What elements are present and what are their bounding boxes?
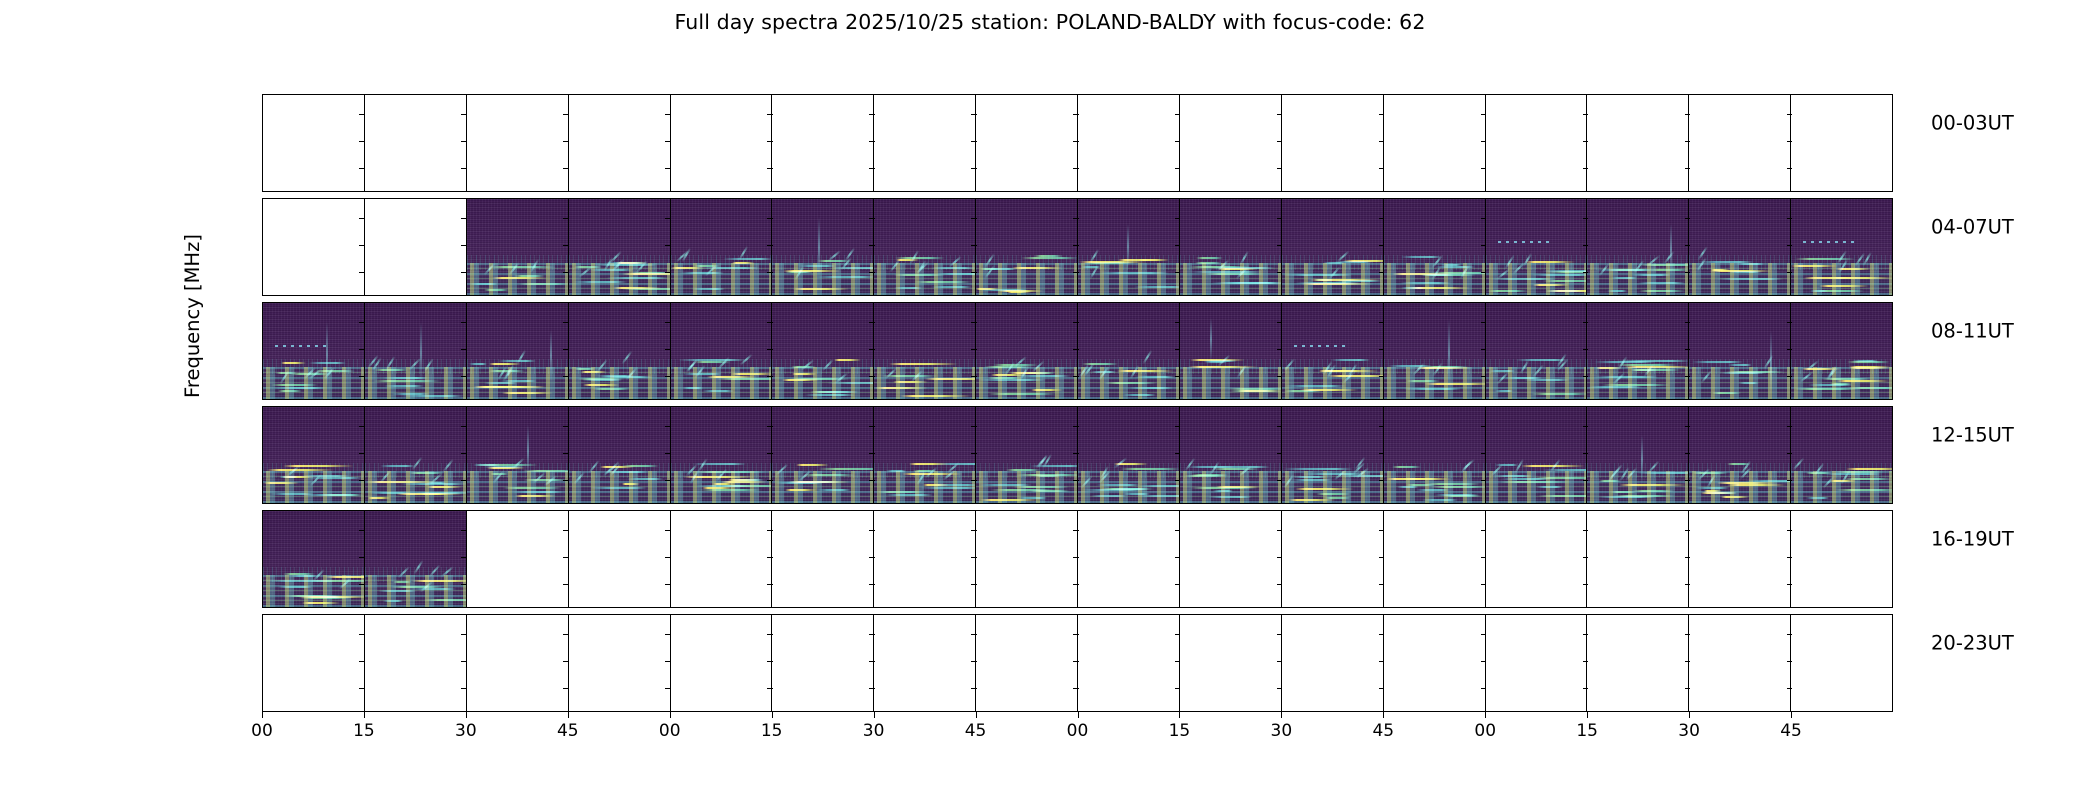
y-tick-mark-inner <box>971 114 977 115</box>
echo-streak <box>503 487 562 489</box>
sweep-trace <box>1855 252 1866 266</box>
sweep-trace <box>798 469 811 481</box>
echo-streak <box>1716 278 1783 280</box>
y-tick-mark-inner <box>1379 245 1385 246</box>
y-tick-mark-inner <box>971 530 977 531</box>
echo-streak <box>582 379 622 381</box>
echo-streak <box>1701 492 1737 494</box>
y-tick-mark-inner <box>869 245 875 246</box>
echo-streak <box>1727 271 1762 273</box>
sweep-trace <box>1827 366 1838 380</box>
echo-streak <box>421 493 448 495</box>
echo-streak <box>1416 489 1450 491</box>
echo-streak <box>1403 478 1451 480</box>
sweep-trace <box>916 260 926 274</box>
spectrogram-panel <box>1077 511 1179 607</box>
spectrogram-panel <box>1179 303 1281 399</box>
spectrogram-panel <box>670 95 772 191</box>
echo-streak <box>1120 468 1179 470</box>
y-tick-mark-inner <box>869 376 875 377</box>
echo-streak <box>894 274 945 276</box>
echo-streak <box>368 497 391 499</box>
y-tick-mark-inner <box>1787 349 1793 350</box>
y-tick-mark-inner <box>461 426 467 427</box>
spectrogram-image <box>1791 303 1892 399</box>
sweep-trace <box>1706 474 1716 489</box>
echo-streak <box>299 596 364 598</box>
x-tick-mark <box>1689 712 1690 718</box>
row-label-12-15ut: 12-15UT <box>1931 424 2014 447</box>
echo-streak <box>1316 493 1351 495</box>
vertical-burst <box>1770 331 1772 395</box>
echo-streak <box>1533 477 1587 479</box>
echo-streak <box>1719 372 1766 374</box>
spectrogram-image <box>1587 303 1688 399</box>
sweep-trace <box>1822 475 1834 488</box>
spectrogram-image <box>1587 407 1688 503</box>
spectrogram-image <box>1689 199 1790 295</box>
spectrogram-panel <box>568 199 670 295</box>
y-tick-mark-inner <box>1481 245 1487 246</box>
echo-streak <box>1099 488 1154 490</box>
y-tick-mark-inner <box>971 218 977 219</box>
y-tick-mark-inner <box>869 349 875 350</box>
y-tick-mark-inner <box>1685 584 1691 585</box>
sweep-trace <box>398 566 411 578</box>
spectrogram-panel <box>1688 95 1790 191</box>
echo-streak <box>818 468 874 470</box>
y-tick-mark-inner <box>971 453 977 454</box>
y-tick-mark: 25 <box>262 272 263 273</box>
echo-streak <box>1302 283 1373 285</box>
spectrogram-panel <box>771 511 873 607</box>
echo-streak <box>805 394 856 396</box>
echo-streak <box>732 262 755 264</box>
y-tick-mark-inner <box>869 272 875 273</box>
y-tick-mark-inner <box>665 376 671 377</box>
y-tick-mark-inner <box>767 634 773 635</box>
y-tick-mark-inner <box>1277 426 1283 427</box>
y-tick-mark-inner <box>665 114 671 115</box>
echo-streak <box>1423 366 1469 368</box>
echo-streak <box>1288 499 1336 501</box>
echo-streak <box>274 387 325 389</box>
echo-streak <box>1429 272 1484 274</box>
y-tick-mark-inner <box>1175 557 1181 558</box>
echo-streak <box>1300 389 1358 391</box>
echo-streak <box>1082 489 1148 491</box>
echo-streak <box>321 494 364 496</box>
panel-strip <box>263 407 1892 503</box>
echo-streak <box>886 470 907 472</box>
echo-streak <box>1018 497 1046 499</box>
echo-streak <box>1595 269 1657 271</box>
sweep-trace <box>1806 360 1819 371</box>
spectrogram-image <box>1689 303 1790 399</box>
echo-streak <box>604 262 647 264</box>
y-tick-mark-inner <box>1481 688 1487 689</box>
spectrogram-figure: Full day spectra 2025/10/25 station: POL… <box>0 0 2100 800</box>
y-tick-mark-inner <box>1073 322 1079 323</box>
sweep-trace <box>1520 360 1530 374</box>
sweep-trace <box>835 373 849 384</box>
echo-streak <box>264 482 299 484</box>
y-tick-mark-inner <box>767 272 773 273</box>
echo-streak <box>1104 382 1157 384</box>
sweep-trace <box>1284 358 1296 371</box>
y-tick-mark-inner <box>1583 661 1589 662</box>
echo-streak <box>789 481 851 483</box>
echo-streak <box>1021 257 1077 259</box>
y-tick-mark-inner <box>563 168 569 169</box>
echo-streak <box>310 580 364 582</box>
panel-strip <box>263 199 1892 295</box>
spectrogram-image <box>671 199 772 295</box>
spectrogram-panel <box>1790 303 1892 399</box>
spectrogram-panel <box>1179 199 1281 295</box>
y-tick-mark-inner <box>1175 480 1181 481</box>
echo-streak <box>630 272 670 274</box>
spectrogram-panel <box>1790 199 1892 295</box>
sweep-trace <box>1334 469 1347 480</box>
spectrogram-panel <box>1281 199 1383 295</box>
y-tick-mark: 50 <box>262 661 263 662</box>
y-tick-mark-inner <box>1685 218 1691 219</box>
sweep-trace <box>1497 268 1510 279</box>
echo-streak <box>469 363 488 365</box>
echo-streak <box>783 270 841 272</box>
y-tick-mark-inner <box>1787 322 1793 323</box>
echo-streak <box>613 287 662 289</box>
spectrogram-image <box>772 303 873 399</box>
sweep-trace <box>1700 370 1711 383</box>
y-tick-mark-inner <box>1685 453 1691 454</box>
spectrogram-panel <box>1179 407 1281 503</box>
spectrogram-panel <box>1179 95 1281 191</box>
echo-streak <box>1130 387 1174 389</box>
echo-streak <box>1822 473 1883 475</box>
spectrogram-panel <box>771 407 873 503</box>
sweep-trace <box>1184 458 1195 472</box>
sweep-trace <box>1083 363 1094 377</box>
y-tick-mark-inner <box>767 168 773 169</box>
echo-streak <box>789 378 849 380</box>
echo-streak <box>977 379 1046 381</box>
echo-streak <box>1188 366 1257 368</box>
y-tick-mark-inner <box>971 376 977 377</box>
y-tick-mark-inner <box>1073 218 1079 219</box>
echo-streak <box>370 492 414 494</box>
spectrogram-panel <box>568 407 670 503</box>
y-tick-mark-inner <box>1277 218 1283 219</box>
echo-streak <box>1435 266 1475 268</box>
echo-streak <box>1117 370 1175 372</box>
spectrogram-panel <box>263 199 364 295</box>
x-tick-mark <box>1485 712 1486 718</box>
echo-streak <box>500 380 537 382</box>
y-tick-mark: 50 <box>262 245 263 246</box>
echo-streak <box>291 575 317 577</box>
echo-streak <box>1602 384 1671 386</box>
echo-streak <box>469 283 497 285</box>
spectrogram-panel <box>1281 303 1383 399</box>
echo-streak <box>931 286 972 288</box>
spectrogram-image <box>772 199 873 295</box>
echo-streak <box>426 482 446 484</box>
echo-streak <box>1213 466 1270 468</box>
echo-streak <box>1323 262 1345 264</box>
x-tick-label: 00 <box>1067 721 1089 741</box>
sweep-trace <box>1827 365 1837 379</box>
echo-streak <box>730 479 764 481</box>
spectrogram-image <box>365 511 466 607</box>
echo-streak <box>1035 475 1062 477</box>
y-tick-mark-inner <box>1277 530 1283 531</box>
y-tick-mark-inner <box>665 480 671 481</box>
spectrogram-panel <box>1077 95 1179 191</box>
echo-streak <box>502 392 552 394</box>
x-tick-mark <box>874 712 875 718</box>
echo-streak <box>400 483 466 485</box>
spectrogram-image <box>569 407 670 503</box>
y-tick-mark-inner <box>461 634 467 635</box>
y-tick-mark-inner <box>1787 272 1793 273</box>
sweep-trace <box>1130 365 1140 379</box>
y-tick-mark-inner <box>1379 141 1385 142</box>
spectrogram-panel <box>364 407 466 503</box>
echo-streak <box>1692 472 1729 474</box>
echo-streak <box>1609 269 1651 271</box>
echo-streak <box>265 580 335 582</box>
echo-streak <box>1639 290 1685 292</box>
y-tick-mark-inner <box>1073 114 1079 115</box>
echo-streak <box>988 377 1021 379</box>
echo-streak <box>827 382 873 384</box>
y-tick-mark-inner <box>461 480 467 481</box>
echo-streak <box>1639 264 1688 266</box>
y-tick-mark-inner <box>1787 584 1793 585</box>
y-tick-mark-inner <box>767 376 773 377</box>
echo-streak <box>1717 482 1779 484</box>
echo-streak <box>1331 280 1382 282</box>
spectrogram-panel <box>1586 615 1688 711</box>
y-tick-mark-inner <box>461 245 467 246</box>
echo-streak <box>991 374 1026 376</box>
echo-streak <box>487 266 557 268</box>
y-tick-mark-inner <box>1175 634 1181 635</box>
echo-streak <box>1843 478 1892 480</box>
y-tick-mark-inner <box>1685 141 1691 142</box>
echo-streak <box>1091 371 1117 373</box>
y-tick-mark-inner <box>359 218 365 219</box>
echo-streak <box>284 595 341 597</box>
echo-streak <box>978 484 1032 486</box>
echo-streak <box>1501 478 1551 480</box>
spectrogram-row: 755025 <box>262 94 1893 192</box>
y-tick-mark-inner <box>1685 349 1691 350</box>
echo-streak <box>1338 475 1383 477</box>
plot-area: 00-03UT75502504-07UT75502508-11UT7550251… <box>262 94 1893 714</box>
echo-streak <box>595 264 656 266</box>
echo-streak <box>884 494 933 496</box>
y-tick-mark-inner <box>563 480 569 481</box>
y-tick-mark-inner <box>1073 426 1079 427</box>
echo-streak <box>984 268 1017 270</box>
spectrogram-row: 755025 <box>262 302 1893 400</box>
echo-streak <box>976 288 998 290</box>
sweep-trace <box>1431 266 1441 280</box>
x-tick-label: 45 <box>557 721 579 741</box>
spectrogram-panel <box>1179 615 1281 711</box>
y-tick-mark-inner <box>1277 245 1283 246</box>
y-tick-mark-inner <box>869 168 875 169</box>
spectrogram-image <box>1078 199 1179 295</box>
y-tick-mark-inner <box>1277 661 1283 662</box>
spectrogram-panel <box>1281 511 1383 607</box>
spectrogram-panel <box>466 303 568 399</box>
y-tick-mark-inner <box>359 272 365 273</box>
y-tick-mark-inner <box>767 218 773 219</box>
spectrogram-image <box>874 303 975 399</box>
panel-strip <box>263 511 1892 607</box>
y-tick-mark-inner <box>1073 688 1079 689</box>
echo-streak <box>1712 392 1741 394</box>
sweep-trace <box>1098 366 1108 380</box>
y-tick-mark-inner <box>767 584 773 585</box>
echo-streak <box>1189 266 1251 268</box>
y-tick-mark-inner <box>359 376 365 377</box>
y-tick-mark-inner <box>461 661 467 662</box>
y-tick-mark-inner <box>665 322 671 323</box>
echo-streak <box>692 288 725 290</box>
echo-streak <box>325 576 364 578</box>
x-tick-label: 45 <box>1372 721 1394 741</box>
echo-streak <box>923 484 950 486</box>
spectrogram-image <box>1486 303 1587 399</box>
y-tick-mark-inner <box>1481 453 1487 454</box>
echo-streak <box>1416 367 1472 369</box>
sweep-trace <box>1080 476 1092 489</box>
y-tick-mark-inner <box>1583 168 1589 169</box>
panel-strip <box>263 615 1892 711</box>
y-tick-mark-inner <box>1481 376 1487 377</box>
spectrogram-panel <box>1281 407 1383 503</box>
y-tick-mark-inner <box>1073 245 1079 246</box>
echo-streak <box>1006 469 1040 471</box>
y-tick-mark-inner <box>359 453 365 454</box>
vertical-burst <box>1641 435 1643 484</box>
sweep-trace <box>690 470 700 484</box>
spectrogram-row: 755025 <box>262 406 1893 504</box>
spectrogram-image <box>1791 407 1892 503</box>
y-tick-mark-inner <box>1583 322 1589 323</box>
echo-streak <box>1487 290 1528 292</box>
sweep-trace <box>1461 460 1473 473</box>
row-label-08-11ut: 08-11UT <box>1931 320 2014 343</box>
echo-streak <box>1443 495 1482 497</box>
y-tick-mark-inner <box>869 661 875 662</box>
spectrogram-panel <box>1077 199 1179 295</box>
echo-streak <box>1692 361 1743 363</box>
spectrogram-panel <box>263 407 364 503</box>
sweep-trace <box>420 581 433 592</box>
echo-streak <box>803 474 854 476</box>
y-tick-mark-inner <box>665 272 671 273</box>
echo-streak <box>894 287 922 289</box>
sweep-trace <box>280 370 290 384</box>
sweep-trace <box>1078 364 1088 378</box>
echo-streak <box>1295 282 1360 284</box>
spectrogram-panel <box>1790 95 1892 191</box>
y-tick-mark-inner <box>971 557 977 558</box>
sweep-trace <box>611 259 624 271</box>
echo-streak <box>1806 497 1829 499</box>
echo-streak <box>1190 487 1258 489</box>
spectrogram-panel <box>466 95 568 191</box>
echo-streak <box>1647 269 1688 271</box>
spectrogram-panel <box>771 199 873 295</box>
y-tick-mark-inner <box>359 168 365 169</box>
y-tick-mark: 25 <box>262 376 263 377</box>
spectrogram-image <box>1587 199 1688 295</box>
echo-streak <box>583 384 620 386</box>
echo-streak <box>492 277 547 279</box>
y-tick-mark-inner <box>1073 376 1079 377</box>
spectrogram-panel <box>364 199 466 295</box>
y-tick-mark-inner <box>563 272 569 273</box>
spectrogram-image <box>1078 303 1179 399</box>
echo-streak <box>1836 268 1871 270</box>
y-tick-mark: 50 <box>262 141 263 142</box>
y-tick-mark-inner <box>1379 349 1385 350</box>
y-tick-mark-inner <box>461 376 467 377</box>
echo-streak <box>1136 495 1179 497</box>
echo-streak <box>1542 270 1586 272</box>
y-tick-mark-inner <box>665 661 671 662</box>
y-tick-mark-inner <box>1175 688 1181 689</box>
echo-streak <box>785 271 814 273</box>
echo-streak <box>475 386 547 388</box>
echo-streak <box>1695 487 1729 489</box>
echo-streak <box>412 580 465 582</box>
y-tick-mark-inner <box>1175 245 1181 246</box>
y-tick-mark-inner <box>767 114 773 115</box>
echo-streak <box>281 362 307 364</box>
echo-streak <box>380 465 415 467</box>
spectrogram-image <box>976 303 1077 399</box>
interference-dotted-line <box>275 345 327 347</box>
sweep-trace <box>1792 457 1804 470</box>
echo-streak <box>400 395 463 397</box>
echo-streak <box>606 277 669 279</box>
x-tick-label: 15 <box>1576 721 1598 741</box>
echo-streak <box>1835 489 1892 491</box>
y-tick-mark-inner <box>665 349 671 350</box>
y-tick-mark-inner <box>461 272 467 273</box>
spectrogram-image <box>365 407 466 503</box>
y-tick-mark-inner <box>1481 480 1487 481</box>
echo-streak <box>1196 257 1223 259</box>
y-tick-mark-inner <box>1073 141 1079 142</box>
echo-streak <box>1632 274 1671 276</box>
spectrogram-image <box>569 199 670 295</box>
echo-streak <box>581 371 606 373</box>
y-tick-mark-inner <box>1175 426 1181 427</box>
spectrogram-image <box>671 407 772 503</box>
sweep-trace <box>441 566 454 577</box>
interference-dotted-line <box>1498 241 1550 243</box>
y-tick-mark-inner <box>1787 530 1793 531</box>
